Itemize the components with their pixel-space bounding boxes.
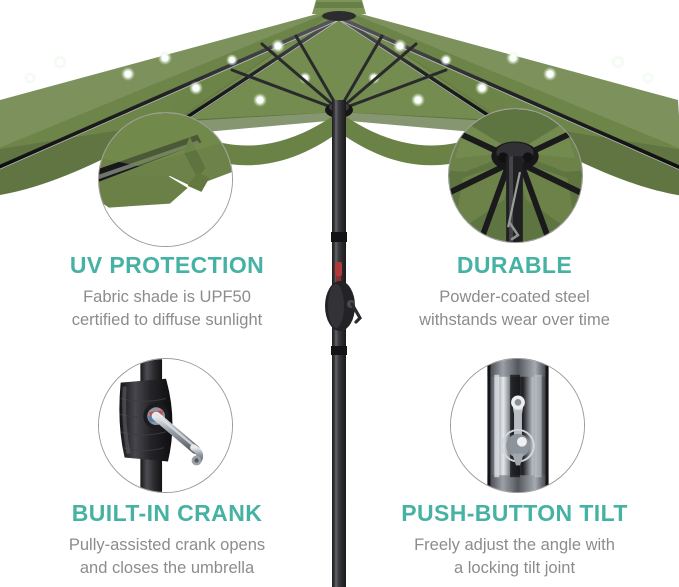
caption-body-built-in-crank: Pully-assisted crank opens and closes th… <box>12 534 322 580</box>
caption-body-push-button-tilt: Freely adjust the angle with a locking t… <box>362 534 667 580</box>
canopy-vent-finial <box>312 0 366 21</box>
feature-inset-push-button-tilt <box>450 358 585 493</box>
caption-body-durable: Powder-coated steel withstands wear over… <box>362 286 667 332</box>
caption-body-line-1: Freely adjust the angle with <box>362 534 667 557</box>
caption-body-line-2: withstands wear over time <box>362 309 667 332</box>
caption-durable: DURABLE Powder-coated steel withstands w… <box>362 252 667 332</box>
caption-title-durable: DURABLE <box>362 252 667 278</box>
product-feature-infographic: UV PROTECTION Fabric shade is UPF50 cert… <box>0 0 679 587</box>
caption-body-line-1: Powder-coated steel <box>362 286 667 309</box>
feature-inset-durable <box>448 108 583 243</box>
caption-push-button-tilt: PUSH-BUTTON TILT Freely adjust the angle… <box>362 500 667 580</box>
caption-body-line-1: Pully-assisted crank opens <box>12 534 322 557</box>
umbrella-hub-ribs-underside-closeup-icon <box>449 109 582 242</box>
caption-uv-protection: UV PROTECTION Fabric shade is UPF50 cert… <box>12 252 322 332</box>
caption-title-built-in-crank: BUILT-IN CRANK <box>12 500 322 526</box>
feature-inset-built-in-crank <box>98 358 233 493</box>
chrome-tilt-joint-closeup-icon <box>451 359 584 492</box>
umbrella-hub-struts <box>232 36 446 118</box>
caption-built-in-crank: BUILT-IN CRANK Pully-assisted crank open… <box>12 500 322 580</box>
led-lights <box>24 39 654 107</box>
center-pole <box>331 100 347 587</box>
caption-body-line-2: and closes the umbrella <box>12 557 322 580</box>
caption-body-line-2: a locking tilt joint <box>362 557 667 580</box>
caption-body-line-2: certified to diffuse sunlight <box>12 309 322 332</box>
crank-assembly <box>325 262 360 331</box>
caption-body-uv-protection: Fabric shade is UPF50 certified to diffu… <box>12 286 322 332</box>
crank-housing-handle-closeup-icon <box>99 359 232 492</box>
feature-inset-uv-protection <box>98 112 233 247</box>
canopy-fabric-rib-closeup-icon <box>99 113 232 246</box>
caption-title-uv-protection: UV PROTECTION <box>12 252 322 278</box>
caption-title-push-button-tilt: PUSH-BUTTON TILT <box>362 500 667 526</box>
caption-body-line-1: Fabric shade is UPF50 <box>12 286 322 309</box>
